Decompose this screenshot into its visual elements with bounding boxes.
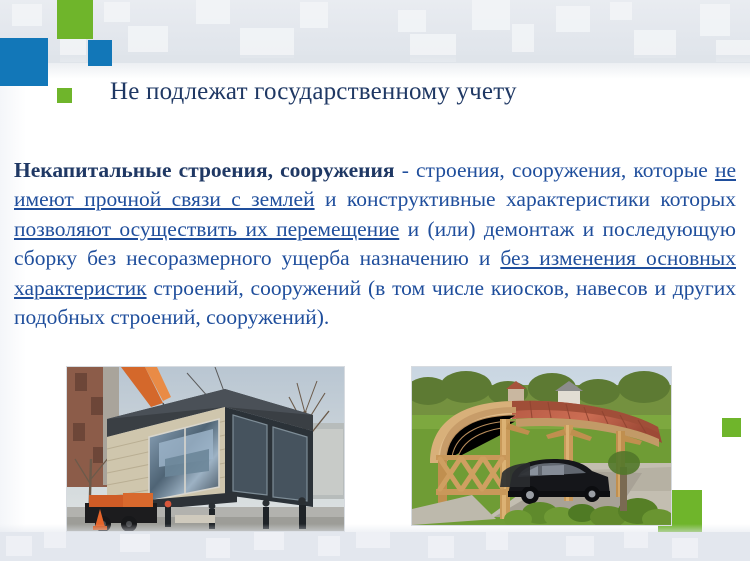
body-bold-lead: Некапитальные строения, сооружения (14, 158, 395, 182)
mosaic-tile (196, 0, 230, 24)
header-mosaic-band (0, 0, 750, 63)
mosaic-tile (206, 538, 230, 558)
mosaic-tile (486, 532, 508, 550)
mosaic-tile (610, 2, 632, 20)
mosaic-tile (240, 28, 294, 58)
mosaic-tile (254, 532, 284, 550)
title-bullet-square (57, 88, 72, 103)
body-after-lead: - строения, сооружения, которые (395, 158, 715, 182)
decor-square-blue-small-top (88, 40, 112, 66)
decor-square-green-small-right (722, 418, 741, 437)
bottom-mosaic-band (0, 532, 750, 561)
mosaic-tile (128, 26, 168, 52)
photo-wooden-carport-graphic (412, 367, 671, 525)
mosaic-tile (624, 532, 648, 548)
mosaic-tile (6, 536, 32, 556)
mosaic-tile (634, 30, 676, 58)
mosaic-tile (512, 24, 534, 52)
mosaic-tile (566, 536, 594, 556)
mosaic-tile (318, 536, 340, 556)
slide-title: Не подлежат государственному учету (110, 78, 710, 106)
body-mid-1: и конструктивные характеристики которых (315, 187, 736, 211)
mosaic-tile (556, 6, 590, 32)
photo-modular-kiosk-crane-graphic (67, 367, 344, 531)
slide-body-paragraph: Некапитальные строения, сооружения - стр… (14, 156, 736, 333)
body-underline-allow-relocation: позволяют осуществить их перемещение (14, 217, 399, 241)
header-fade-overlay (0, 55, 750, 79)
decor-square-blue-large-left (0, 38, 48, 86)
mosaic-tile (120, 534, 150, 552)
mosaic-tile (104, 2, 130, 22)
presentation-slide: Не подлежат государственному учету Некап… (0, 0, 750, 561)
mosaic-tile (672, 538, 698, 558)
mosaic-tile (428, 536, 454, 558)
mosaic-tile (44, 532, 66, 548)
mosaic-tile (12, 4, 42, 26)
mosaic-tile (398, 10, 426, 32)
mosaic-tile (356, 532, 390, 548)
mosaic-tile (700, 4, 730, 36)
decor-square-green-large-top (57, 0, 93, 39)
mosaic-tile (300, 2, 328, 28)
mosaic-tile (472, 0, 510, 30)
photo-modular-kiosk-crane (66, 366, 345, 532)
photo-wooden-carport (411, 366, 672, 526)
